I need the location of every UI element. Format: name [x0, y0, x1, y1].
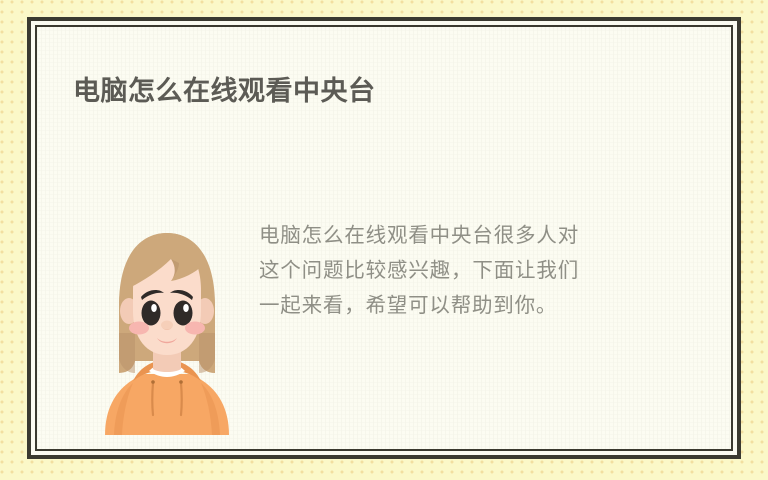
avatar [67, 213, 267, 435]
article-frame-inner: 电脑怎么在线观看中央台 [35, 25, 733, 451]
page-title: 电脑怎么在线观看中央台 [73, 75, 376, 107]
eye-left [142, 301, 161, 326]
blush-left [129, 322, 149, 335]
eye-right [174, 301, 193, 326]
article-body-text: 电脑怎么在线观看中央台很多人对这个问题比较感兴趣，下面让我们一起来看，希望可以帮… [259, 219, 579, 324]
article-frame-outer: 电脑怎么在线观看中央台 [27, 17, 741, 459]
page-background: 电脑怎么在线观看中央台 [0, 0, 768, 480]
blush-right [185, 322, 205, 335]
article-content: 电脑怎么在线观看中央台 [37, 27, 731, 449]
